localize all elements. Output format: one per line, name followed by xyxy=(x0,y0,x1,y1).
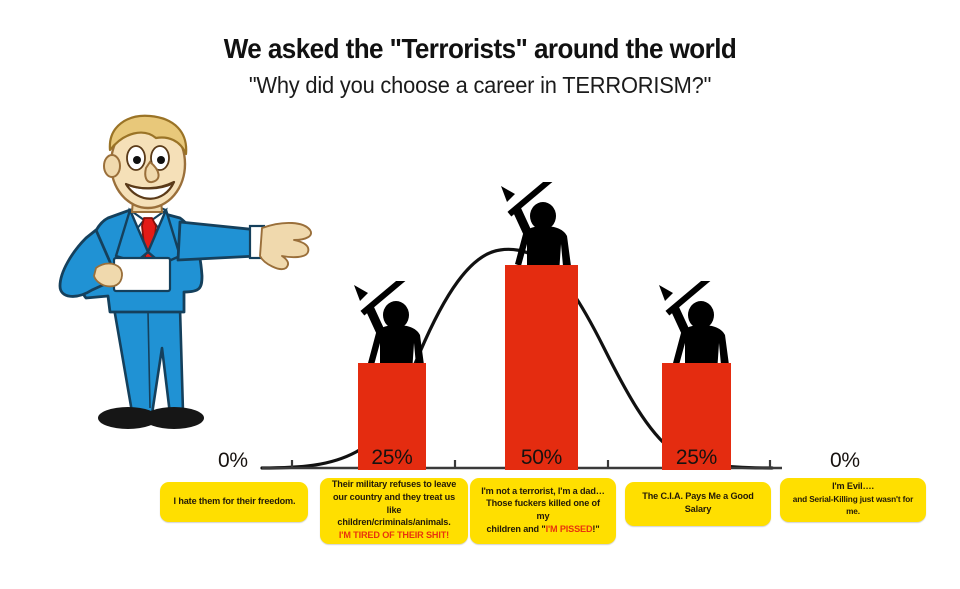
arm-left xyxy=(366,307,386,337)
bar-value-left: 25% xyxy=(358,446,426,470)
bar-value-right: 25% xyxy=(662,446,731,470)
callout-military-line-3: children/criminals/animals. xyxy=(337,517,450,528)
callout-cia[interactable]: The C.I.A. Pays Me a Good Salary xyxy=(625,482,771,526)
callout-freedom-line-1: I hate them for their freedom. xyxy=(173,496,295,507)
callout-evil-line-1: I'm Evil…. xyxy=(832,481,874,492)
callout-evil[interactable]: I'm Evil…. and Serial-Killing just wasn'… xyxy=(780,478,926,522)
callout-dad-line-2: Those fuckers killed one of my xyxy=(486,498,600,522)
callout-evil-line-2: and Serial-Killing just wasn't for me. xyxy=(793,494,913,517)
zero-label-left: 0% xyxy=(218,449,248,473)
callout-military-line-4-shout: I'M TIRED OF THEIR SHIT! xyxy=(339,530,449,541)
callout-military-text: Their military refuses to leave our coun… xyxy=(330,479,459,542)
head-left xyxy=(383,301,409,329)
meme-chart-page: We asked the "Terrorists" around the wor… xyxy=(0,0,960,589)
arm-right xyxy=(671,307,691,337)
callout-military[interactable]: Their military refuses to leave our coun… xyxy=(320,478,468,544)
callout-evil-text: I'm Evil…. and Serial-Killing just wasn'… xyxy=(790,481,917,519)
callout-freedom[interactable]: I hate them for their freedom. xyxy=(160,482,308,522)
launcher-tip-left xyxy=(354,285,368,301)
bar-value-center: 50% xyxy=(505,446,578,470)
callout-cia-line-1: The C.I.A. Pays Me a Good Salary xyxy=(642,491,753,515)
zero-label-right: 0% xyxy=(830,449,860,473)
launcher-tip-right xyxy=(659,285,673,301)
head-center xyxy=(530,202,556,230)
callout-dad-line-1: I'm not a terrorist, I'm a dad… xyxy=(481,486,605,497)
launcher-tip-center xyxy=(501,186,515,202)
bar-50-center xyxy=(505,265,578,470)
callout-dad-shout: I'M PISSED xyxy=(546,524,593,535)
callout-cia-text: The C.I.A. Pays Me a Good Salary xyxy=(635,491,762,516)
callout-dad-line-3: children and "I'M PISSED!" xyxy=(486,524,599,535)
arm-center xyxy=(513,208,533,238)
callout-military-line-2: our country and they treat us like xyxy=(333,492,455,516)
callout-freedom-text: I hate them for their freedom. xyxy=(173,496,295,509)
head-right xyxy=(688,301,714,329)
callout-military-line-1: Their military refuses to leave xyxy=(332,479,456,490)
callout-dad[interactable]: I'm not a terrorist, I'm a dad… Those fu… xyxy=(470,478,616,544)
callout-dad-text: I'm not a terrorist, I'm a dad… Those fu… xyxy=(480,486,607,537)
